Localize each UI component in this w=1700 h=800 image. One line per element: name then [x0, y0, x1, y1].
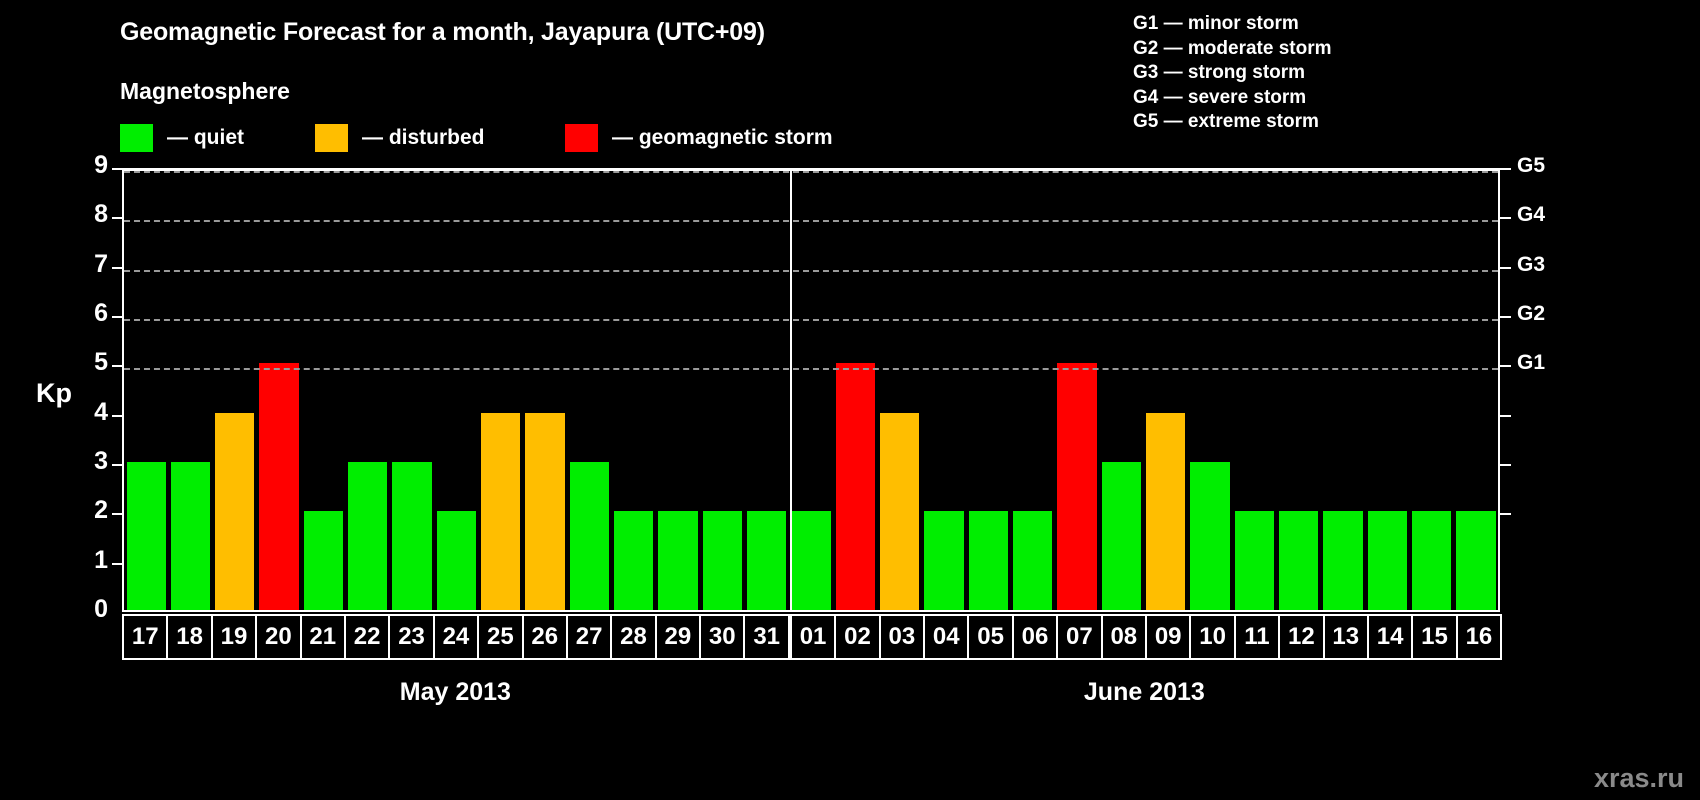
bar-day-11	[1235, 511, 1274, 610]
bar-day-17	[127, 462, 166, 610]
bar-day-01	[791, 511, 830, 610]
day-cell-21[interactable]: 21	[300, 614, 346, 660]
disturbed-swatch-icon	[315, 124, 348, 152]
y-tick-label-5: 5	[68, 348, 108, 377]
bar-slot	[700, 171, 744, 610]
bar-day-19	[215, 413, 254, 610]
g-tick-mark-G2	[1500, 316, 1511, 318]
bar-slot	[878, 171, 922, 610]
bar-slot	[833, 171, 877, 610]
bar-slot	[257, 171, 301, 610]
month-caption-june: June 2013	[994, 678, 1294, 707]
day-cell-19[interactable]: 19	[211, 614, 257, 660]
bar-day-04	[924, 511, 963, 610]
bar-day-25	[481, 413, 520, 610]
plot-area	[124, 171, 1498, 610]
bar-slot	[479, 171, 523, 610]
bar-slot	[789, 171, 833, 610]
bar-slot	[656, 171, 700, 610]
g-tick-label-G4: G4	[1517, 203, 1545, 227]
page-title: Geomagnetic Forecast for a month, Jayapu…	[120, 18, 765, 47]
y-tick-mark-4	[112, 415, 123, 417]
bar-slot	[966, 171, 1010, 610]
g-legend-item-2: G2 — moderate storm	[1133, 37, 1332, 62]
day-cell-23[interactable]: 23	[388, 614, 434, 660]
y-tick-mark-3	[112, 464, 123, 466]
g-tick-label-G1: G1	[1517, 351, 1545, 375]
g-tick-mark-G1	[1500, 365, 1511, 367]
day-cell-06[interactable]: 06	[1012, 614, 1058, 660]
bar-day-13	[1323, 511, 1362, 610]
bar-slot	[523, 171, 567, 610]
bar-day-06	[1013, 511, 1052, 610]
y-tick-mark-5	[112, 365, 123, 367]
bar-day-03	[880, 413, 919, 610]
bar-day-18	[171, 462, 210, 610]
day-cell-16[interactable]: 16	[1456, 614, 1502, 660]
legend-entry-storm: — geomagnetic storm	[565, 122, 833, 154]
g-legend-item-5: G5 — extreme storm	[1133, 110, 1332, 135]
y-tick-label-6: 6	[68, 299, 108, 328]
bar-day-09	[1146, 413, 1185, 610]
g-legend-item-1: G1 — minor storm	[1133, 12, 1332, 37]
bar-day-14	[1368, 511, 1407, 610]
bar-day-26	[525, 413, 564, 610]
day-cell-29[interactable]: 29	[655, 614, 701, 660]
y-tick-mark-8	[112, 217, 123, 219]
gridline-kp-6	[124, 319, 1498, 321]
g-tick-label-G5: G5	[1517, 154, 1545, 178]
bar-day-30	[703, 511, 742, 610]
gridline-kp-9	[124, 171, 1498, 173]
y-tick-label-7: 7	[68, 250, 108, 279]
y-tick-label-3: 3	[68, 447, 108, 476]
bar-slot	[612, 171, 656, 610]
g-tick-label-G3: G3	[1517, 253, 1545, 277]
bar-day-05	[969, 511, 1008, 610]
day-cell-12[interactable]: 12	[1278, 614, 1324, 660]
day-cell-17[interactable]: 17	[122, 614, 168, 660]
bar-day-08	[1102, 462, 1141, 610]
quiet-swatch-icon	[120, 124, 153, 152]
g-tick-label-G2: G2	[1517, 302, 1545, 326]
day-cell-26[interactable]: 26	[522, 614, 568, 660]
y-axis-title: Kp	[36, 378, 72, 409]
bar-day-23	[392, 462, 431, 610]
g-tick-mark-minor-3	[1500, 464, 1511, 466]
bar-slot	[1099, 171, 1143, 610]
day-cell-14[interactable]: 14	[1367, 614, 1413, 660]
bar-day-10	[1190, 462, 1229, 610]
g-tick-mark-G3	[1500, 267, 1511, 269]
bar-slot	[1365, 171, 1409, 610]
day-cell-05[interactable]: 05	[967, 614, 1013, 660]
bar-slot	[168, 171, 212, 610]
month-separator-line	[790, 171, 792, 610]
bar-day-22	[348, 462, 387, 610]
day-label-row: 1718192021222324252627282930310102030405…	[122, 614, 1500, 660]
day-cell-08[interactable]: 08	[1101, 614, 1147, 660]
g-scale-legend: G1 — minor stormG2 — moderate stormG3 — …	[1133, 12, 1332, 135]
bar-slot	[1055, 171, 1099, 610]
gridline-kp-8	[124, 220, 1498, 222]
bar-slot	[1277, 171, 1321, 610]
month-caption-may: May 2013	[305, 678, 605, 707]
gridline-kp-5	[124, 368, 1498, 370]
day-cell-13[interactable]: 13	[1323, 614, 1369, 660]
bar-day-27	[570, 462, 609, 610]
day-cell-07[interactable]: 07	[1056, 614, 1102, 660]
g-legend-item-4: G4 — severe storm	[1133, 86, 1332, 111]
legend-label-quiet: — quiet	[167, 126, 244, 150]
storm-swatch-icon	[565, 124, 598, 152]
day-cell-15[interactable]: 15	[1411, 614, 1457, 660]
bar-slot	[434, 171, 478, 610]
g-tick-mark-G5	[1500, 168, 1511, 170]
bar-slot	[301, 171, 345, 610]
g-tick-mark-G4	[1500, 217, 1511, 219]
day-cell-24[interactable]: 24	[433, 614, 479, 660]
bar-day-31	[747, 511, 786, 610]
g-tick-mark-minor-2	[1500, 513, 1511, 515]
day-cell-20[interactable]: 20	[255, 614, 301, 660]
bar-slot	[745, 171, 789, 610]
day-cell-04[interactable]: 04	[923, 614, 969, 660]
bar-slot	[1232, 171, 1276, 610]
bar-day-16	[1456, 511, 1495, 610]
bar-slot	[1188, 171, 1232, 610]
bar-slot	[1144, 171, 1188, 610]
bar-day-24	[437, 511, 476, 610]
y-tick-label-2: 2	[68, 496, 108, 525]
bar-series	[124, 171, 1498, 610]
day-cell-25[interactable]: 25	[477, 614, 523, 660]
legend-label-storm: — geomagnetic storm	[612, 126, 833, 150]
bar-day-29	[658, 511, 697, 610]
y-tick-label-8: 8	[68, 200, 108, 229]
y-tick-label-1: 1	[68, 546, 108, 575]
legend-entry-quiet: — quiet	[120, 122, 244, 154]
bar-day-15	[1412, 511, 1451, 610]
day-cell-30[interactable]: 30	[699, 614, 745, 660]
day-cell-28[interactable]: 28	[610, 614, 656, 660]
bar-slot	[567, 171, 611, 610]
gridline-kp-7	[124, 270, 1498, 272]
bar-slot	[390, 171, 434, 610]
legend-label-disturbed: — disturbed	[362, 126, 485, 150]
bar-slot	[1011, 171, 1055, 610]
y-tick-label-0: 0	[68, 595, 108, 624]
day-cell-02[interactable]: 02	[834, 614, 880, 660]
bar-day-28	[614, 511, 653, 610]
y-tick-mark-2	[112, 513, 123, 515]
day-cell-18[interactable]: 18	[166, 614, 212, 660]
watermark: xras.ru	[1594, 763, 1684, 794]
y-tick-label-4: 4	[68, 398, 108, 427]
day-cell-11[interactable]: 11	[1234, 614, 1280, 660]
y-tick-label-9: 9	[68, 151, 108, 180]
day-cell-09[interactable]: 09	[1145, 614, 1191, 660]
bar-day-07	[1057, 363, 1096, 610]
day-cell-03[interactable]: 03	[879, 614, 925, 660]
bar-slot	[124, 171, 168, 610]
bar-slot	[1454, 171, 1498, 610]
y-tick-mark-7	[112, 267, 123, 269]
day-cell-27[interactable]: 27	[566, 614, 612, 660]
g-legend-item-3: G3 — strong storm	[1133, 61, 1332, 86]
day-cell-31[interactable]: 31	[743, 614, 789, 660]
day-cell-10[interactable]: 10	[1189, 614, 1235, 660]
g-tick-mark-minor-4	[1500, 415, 1511, 417]
bar-day-02	[836, 363, 875, 610]
legend-entry-disturbed: — disturbed	[315, 122, 485, 154]
day-cell-01[interactable]: 01	[790, 614, 836, 660]
y-tick-mark-6	[112, 316, 123, 318]
day-cell-22[interactable]: 22	[344, 614, 390, 660]
bar-day-21	[304, 511, 343, 610]
bar-day-20	[259, 363, 298, 610]
bar-slot	[213, 171, 257, 610]
y-tick-mark-1	[112, 563, 123, 565]
bar-day-12	[1279, 511, 1318, 610]
y-tick-mark-9	[112, 168, 123, 170]
plot-frame	[122, 168, 1500, 612]
bar-slot	[346, 171, 390, 610]
bar-slot	[1321, 171, 1365, 610]
magnetosphere-label: Magnetosphere	[120, 78, 290, 105]
bar-slot	[1410, 171, 1454, 610]
bar-slot	[922, 171, 966, 610]
